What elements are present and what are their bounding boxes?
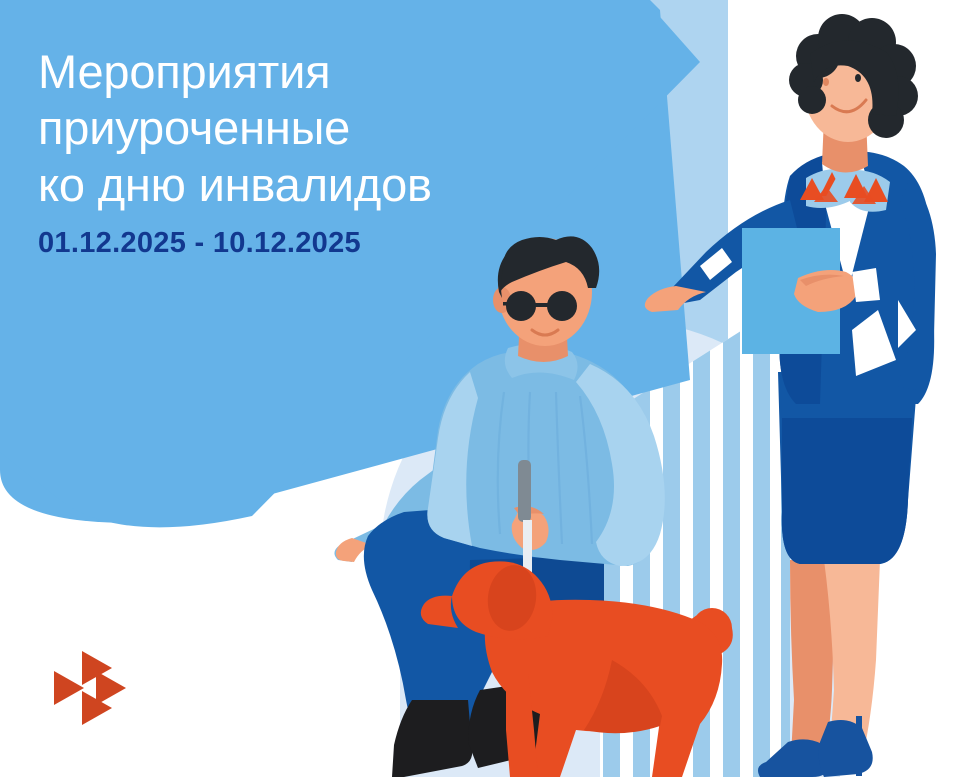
- logo-triangle-group: [54, 651, 126, 725]
- logo-triangle-right: [96, 671, 126, 705]
- date-range: 01.12.2025 - 10.12.2025: [38, 227, 558, 260]
- page-title: Мероприятия приуроченные ко дню инвалидо…: [38, 44, 558, 213]
- poster-canvas: Мероприятия приуроченные ко дню инвалидо…: [0, 0, 960, 777]
- title-block: Мероприятия приуроченные ко дню инвалидо…: [38, 44, 558, 260]
- pinwheel-triangles-logo[interactable]: [52, 645, 144, 737]
- logo-triangle-left: [54, 671, 84, 705]
